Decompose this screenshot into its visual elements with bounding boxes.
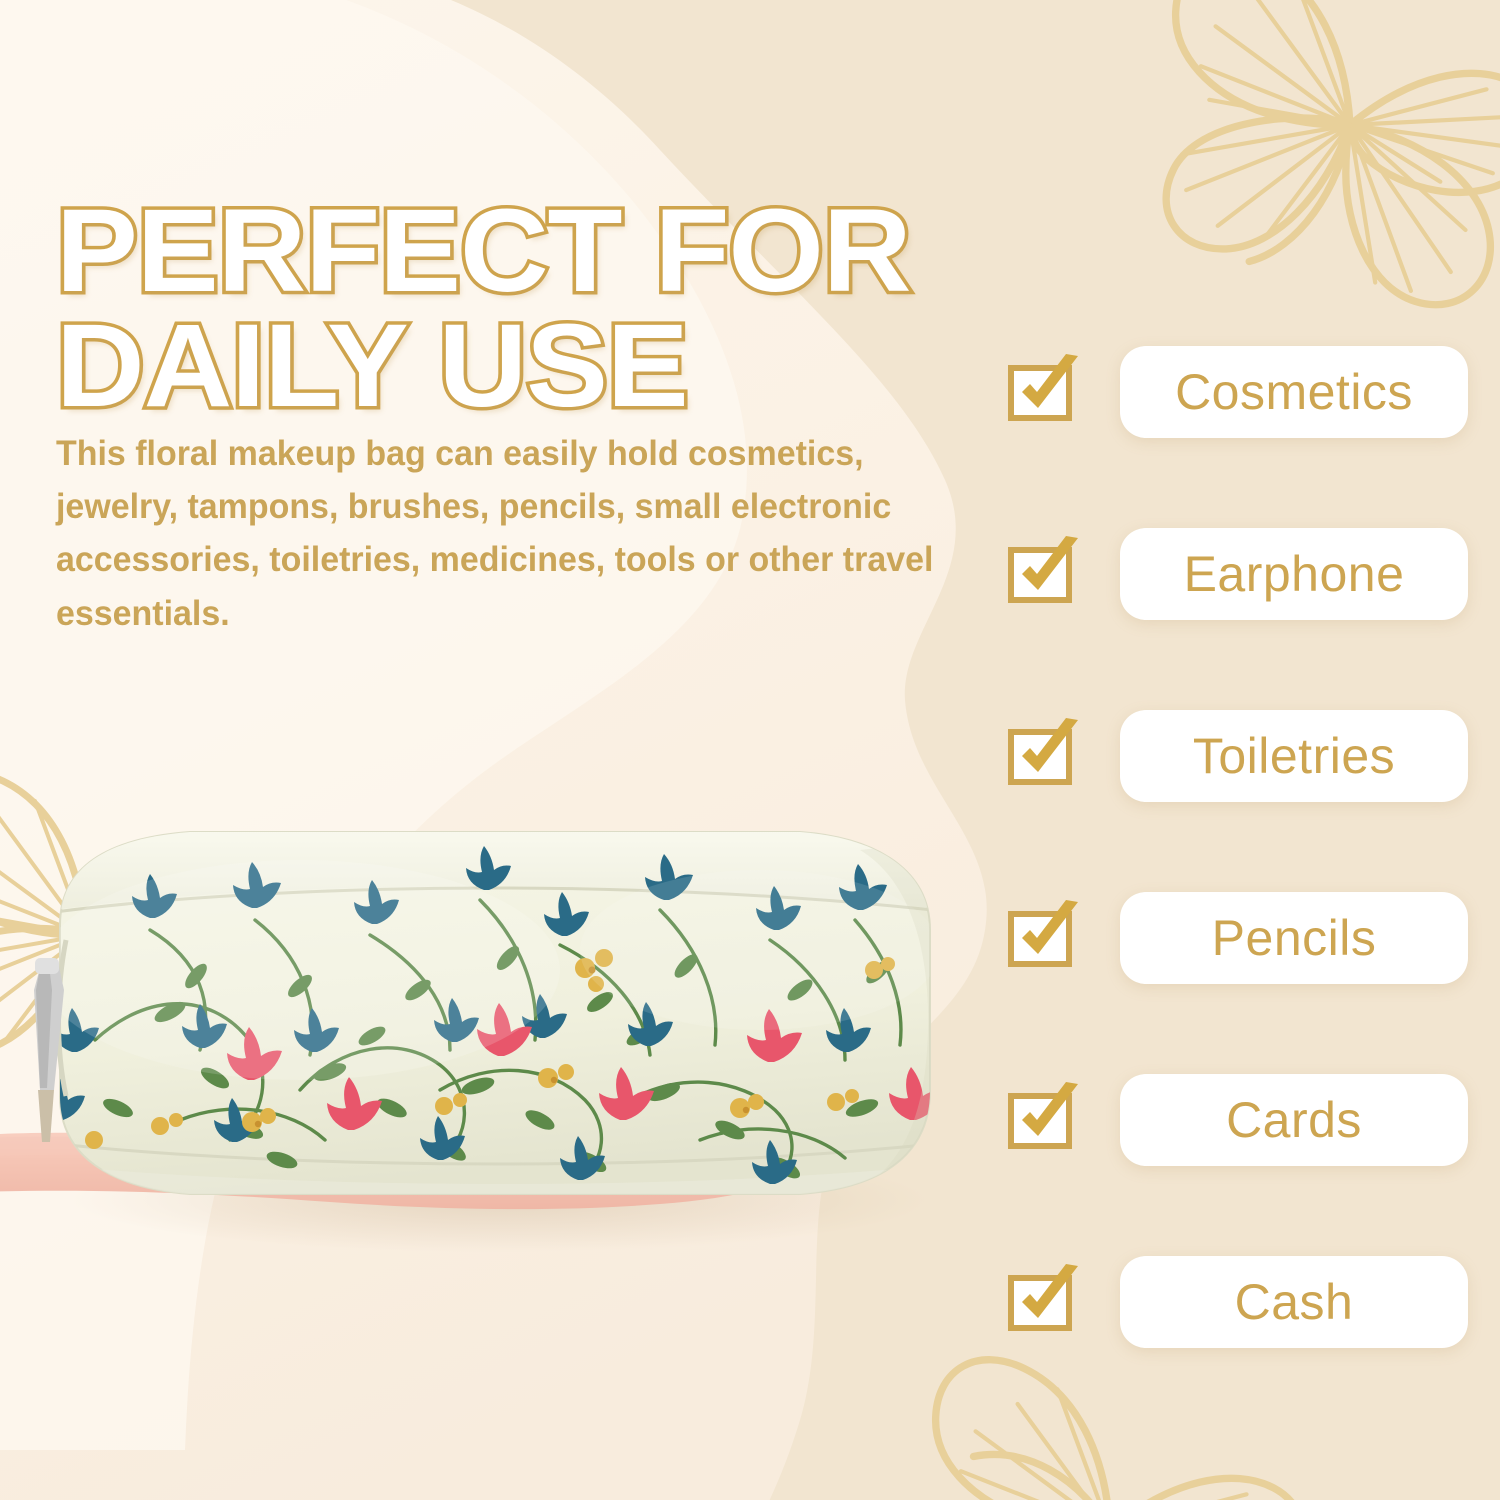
checklist-pill[interactable]: Cosmetics [1120,346,1468,438]
checkbox-checked-icon[interactable] [1008,900,1082,974]
infographic-canvas: PERFECT FOR DAILY USE This floral makeup… [0,0,1500,1500]
checklist-item-cards[interactable]: Cards [1008,1076,1478,1162]
checklist-pill[interactable]: Toiletries [1120,710,1468,802]
checklist-item-label: Cash [1235,1277,1354,1327]
checklist-item-cosmetics[interactable]: Cosmetics [1008,348,1478,434]
feature-checklist: Cosmetics Earphone Toiletr [1008,348,1478,1344]
description-paragraph: This floral makeup bag can easily hold c… [56,427,968,640]
checklist-item-pencils[interactable]: Pencils [1008,894,1478,980]
checkbox-checked-icon[interactable] [1008,1264,1082,1338]
headline-line-2: DAILY USE [56,309,1096,425]
product-photo [0,790,990,1350]
checklist-pill[interactable]: Cash [1120,1256,1468,1348]
checklist-pill[interactable]: Cards [1120,1074,1468,1166]
checklist-item-label: Cosmetics [1175,367,1413,417]
checklist-pill[interactable]: Pencils [1120,892,1468,984]
checklist-pill[interactable]: Earphone [1120,528,1468,620]
checklist-item-label: Pencils [1212,913,1377,963]
floral-makeup-bag [34,830,950,1210]
checklist-item-label: Earphone [1184,549,1405,599]
checklist-item-earphone[interactable]: Earphone [1008,530,1478,616]
checklist-item-cash[interactable]: Cash [1008,1258,1478,1344]
headline-line-1: PERFECT FOR [56,185,910,317]
checkbox-checked-icon[interactable] [1008,1082,1082,1156]
checklist-item-label: Cards [1226,1095,1362,1145]
checklist-item-toiletries[interactable]: Toiletries [1008,712,1478,798]
checkbox-checked-icon[interactable] [1008,354,1082,428]
checkbox-checked-icon[interactable] [1008,536,1082,610]
checkbox-checked-icon[interactable] [1008,718,1082,792]
checklist-item-label: Toiletries [1193,731,1395,781]
